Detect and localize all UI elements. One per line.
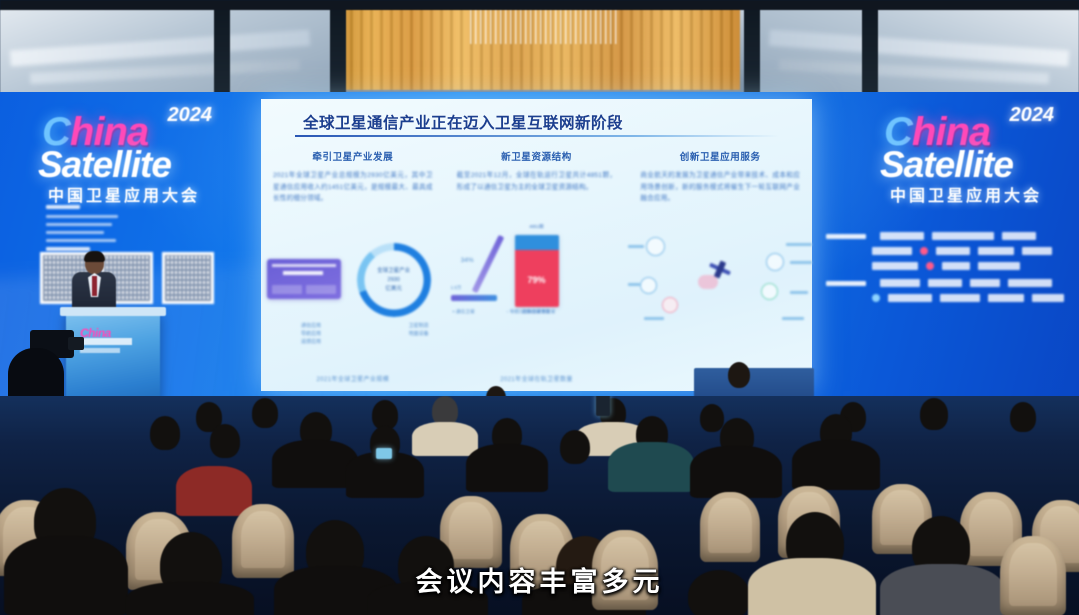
backdrop-info-column (46, 205, 124, 247)
info-line (46, 231, 104, 234)
bar-legend-item: ▪ 通信卫星 (453, 309, 475, 318)
diagram-node-icon (662, 297, 678, 313)
sponsor-logo (970, 279, 1000, 287)
sponsor-group (826, 279, 1072, 302)
ceiling-pillar (862, 0, 878, 96)
ceiling-trim (0, 0, 1079, 10)
bar-segment-other (515, 235, 559, 250)
projected-slide: 全球卫星通信产业正在迈入卫星互联网新阶段 牵引卫星产业发展 2021年全球卫星产… (261, 99, 812, 391)
bar-top-label: 4851颗 (519, 224, 555, 230)
mini-bar-label: 1.5万 (451, 285, 462, 291)
event-logo-chinese-name: 中国卫星应用大会 (890, 182, 1042, 206)
diagram-node-label (790, 291, 808, 294)
chart-side-label: 34% (461, 257, 474, 264)
sponsor-row (826, 247, 1072, 255)
slide-column-3: 创新卫星应用服务 商业航天的发展为卫星通信产业带来技术、成本和应用场景创新，新的… (628, 149, 812, 391)
sponsor-logo (872, 247, 912, 255)
column-caption: 2021年全球在轨卫星数量 (445, 374, 629, 383)
qr-code-icon (162, 252, 214, 304)
sponsor-logo (940, 294, 980, 302)
sponsor-logo (932, 232, 994, 240)
chair (700, 492, 760, 562)
slide-column-2: 新卫星资源结构 截至2021年12月，全球在轨运行卫星共计4851颗，形成了以通… (445, 149, 629, 391)
audience-head (560, 430, 590, 464)
ceiling-pillar (744, 0, 760, 96)
diagram-node-label (644, 317, 664, 320)
panelist-head (728, 362, 750, 388)
sponsor-logo (928, 279, 962, 287)
diagram-node-label (628, 283, 640, 286)
callout-chip (272, 285, 302, 294)
donut-center-label: 全球卫星产业2930亿美元 (367, 267, 421, 293)
sponsor-tier-label (826, 281, 866, 286)
column-body: 商业航天的发展为卫星通信产业带来技术、成本和应用场景创新，新的服务模式将催生下一… (640, 170, 800, 205)
event-logo-year: 2024 (1010, 104, 1055, 127)
sponsor-row (826, 279, 1072, 287)
column-header: 牵引卫星产业发展 (273, 149, 433, 163)
diagram-node-label (628, 245, 644, 248)
sponsor-logo (1008, 279, 1052, 287)
sponsor-logo (1002, 232, 1036, 240)
callout-value (283, 271, 323, 275)
pie-legend-item: 卫星制造地面设备 (409, 323, 429, 339)
bar-legend-item: ▫ 导航/遥感/科研等卫星 (507, 309, 556, 318)
audience-head (1010, 402, 1036, 432)
callout-line (272, 264, 336, 267)
conference-photo: China 2024 Satellite 中国卫星应用大会 China 2024… (0, 0, 1079, 615)
network-diagram (628, 233, 812, 345)
column-body: 截至2021年12月，全球在轨运行卫星共计4851颗，形成了以通信卫星为主的全球… (457, 170, 617, 193)
audience-shoulders (412, 422, 478, 456)
camera-lens (68, 337, 84, 350)
diagram-node-icon (766, 253, 784, 271)
sponsor-logo (880, 279, 920, 287)
diagram-node-icon (640, 277, 657, 294)
chart-callout-box (267, 259, 341, 299)
sponsor-logo (888, 294, 932, 302)
phone-screen (376, 448, 392, 459)
bar-chart: 34% 1.5万 79% 4851颗 在轨卫星总数 ▪ 通信卫星 ▫ 导航/遥感… (445, 231, 629, 351)
diagram-node-label (782, 317, 804, 320)
sponsor-logo (978, 262, 1020, 270)
sponsor-logo-wall (826, 232, 1072, 311)
sponsor-row (826, 294, 1072, 302)
diagram-node-label (786, 243, 812, 246)
sponsor-group (826, 232, 1072, 270)
info-line (46, 215, 118, 218)
column-header: 新卫星资源结构 (457, 149, 617, 163)
event-logo-year: 2024 (168, 104, 213, 127)
diagram-node-label (790, 261, 812, 264)
podium-top (60, 307, 166, 316)
slide-title: 全球卫星通信产业正在迈入卫星互联网新阶段 (303, 111, 623, 133)
ceiling-pillar (214, 0, 230, 96)
subtitle-caption: 会议内容丰富多元 (0, 560, 1079, 599)
event-logo-satellite-text: Satellite (880, 144, 1013, 186)
diagram-node-icon (761, 283, 778, 300)
sponsor-logo (880, 232, 924, 240)
sponsor-logo (1032, 294, 1064, 302)
slide-title-underline (295, 135, 779, 137)
audience-shoulders (176, 466, 252, 516)
audience-head (252, 398, 278, 428)
ceiling (0, 0, 1079, 96)
stacked-bar: 79% (515, 235, 559, 307)
speaker-tie (92, 276, 97, 296)
audience-head (700, 404, 724, 432)
sponsor-row (826, 232, 1072, 240)
slide-column-1: 牵引卫星产业发展 2021年全球卫星产业总规模为2930亿美元，其中卫星通信应用… (261, 149, 445, 391)
event-logo-satellite-text: Satellite (38, 144, 171, 186)
mini-bar (451, 295, 497, 301)
slide-columns: 牵引卫星产业发展 2021年全球卫星产业总规模为2930亿美元，其中卫星通信应用… (261, 149, 812, 391)
info-line (46, 239, 116, 242)
info-heading-bar (46, 247, 90, 251)
sponsor-logo (1022, 247, 1052, 255)
audience-shoulders (792, 440, 880, 490)
pie-chart: 全球卫星产业2930亿美元 通信应用导航应用遥感应用 卫星制造地面设备 (261, 237, 445, 347)
info-line (46, 223, 112, 226)
event-logo-chinese-name: 中国卫星应用大会 (48, 182, 200, 206)
speaker-hair (84, 251, 105, 262)
audience-shoulders (690, 446, 782, 498)
sponsor-tier-label (826, 234, 866, 239)
phone-device (596, 396, 610, 416)
sponsor-dot-icon (920, 247, 928, 255)
audience-shoulders (466, 444, 548, 492)
sponsor-logo (936, 247, 970, 255)
audience-head (150, 416, 180, 450)
audience-head (920, 398, 948, 430)
ceiling-pillar (330, 0, 346, 96)
bar-value-label: 79% (515, 275, 559, 285)
event-logo-left: China 2024 Satellite 中国卫星应用大会 (36, 104, 214, 204)
sponsor-dot-icon (872, 294, 880, 302)
audience-shoulders (608, 442, 694, 492)
sponsor-logo (942, 262, 970, 270)
sponsor-row (826, 262, 1072, 270)
event-logo-right: China 2024 Satellite 中国卫星应用大会 (878, 104, 1056, 204)
column-body: 2021年全球卫星产业总规模为2930亿美元，其中卫星通信应用收入约1451亿美… (273, 170, 433, 205)
column-header: 创新卫星应用服务 (640, 149, 800, 163)
sponsor-logo (978, 247, 1014, 255)
info-heading-bar (46, 205, 80, 209)
callout-chip (306, 285, 336, 294)
sponsor-logo (872, 262, 918, 270)
sponsor-dot-icon (926, 262, 934, 270)
audience-head (210, 424, 240, 458)
qr-code-row (40, 252, 220, 304)
pie-legend-item: 通信应用导航应用遥感应用 (301, 323, 321, 346)
diagram-node-icon (646, 237, 665, 256)
satellite-icon (708, 257, 732, 281)
chart-pen-graphic (471, 235, 504, 293)
column-caption: 2021年全球卫星产业规模 (261, 374, 445, 383)
sponsor-logo (988, 294, 1024, 302)
